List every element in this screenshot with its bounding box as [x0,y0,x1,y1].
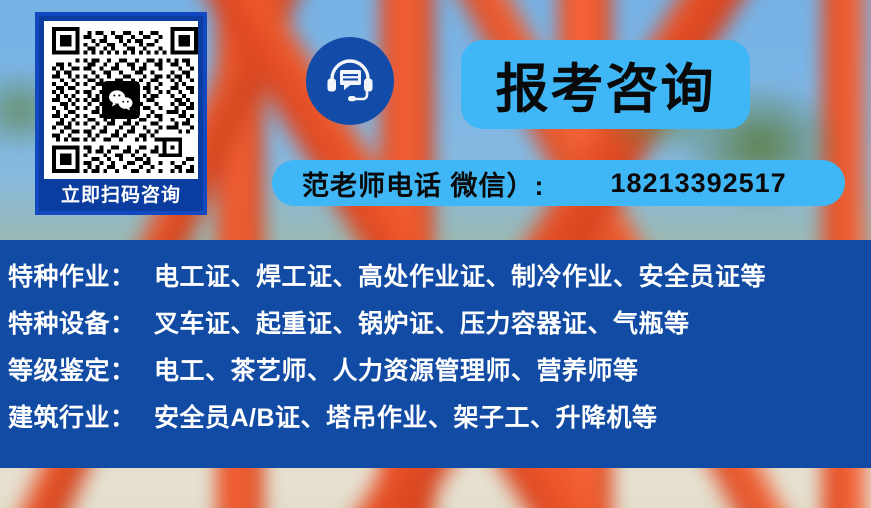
info-row: 特种设备： 叉车证、起重证、锅炉证、压力容器证、气瓶等 [0,304,871,351]
title-pill-label: 报考咨询 [496,47,716,123]
qr-caption: 立即扫码咨询 [44,179,198,213]
info-row-label: 特种作业： [8,257,154,293]
info-row-value: 电工证、焊工证、高处作业证、制冷作业、安全员证等 [154,257,766,293]
info-row-label: 等级鉴定： [8,351,154,387]
info-panel: 特种作业： 电工证、焊工证、高处作业证、制冷作业、安全员证等 特种设备： 叉车证… [0,240,871,468]
qr-code-image[interactable] [44,21,198,179]
info-row-value: 叉车证、起重证、锅炉证、压力容器证、气瓶等 [154,304,690,340]
phone-pill[interactable]: 范老师电话 微信）: 18213392517 [272,160,845,206]
info-row: 建筑行业： 安全员A/B证、塔吊作业、架子工、升降机等 [0,398,871,445]
info-row-label: 特种设备： [8,304,154,340]
title-pill[interactable]: 报考咨询 [461,40,750,129]
promo-poster: 立即扫码咨询 报考咨询 范老师电话 微信）: 18213392517 特种作业：… [0,0,871,508]
headset-support-icon [306,37,394,125]
headset-glyph [322,53,378,109]
info-row: 特种作业： 电工证、焊工证、高处作业证、制冷作业、安全员证等 [0,257,871,304]
info-row-value: 安全员A/B证、塔吊作业、架子工、升降机等 [154,398,658,434]
phone-label: 范老师电话 微信）: [302,164,545,203]
phone-number: 18213392517 [611,168,787,199]
wechat-icon [102,81,140,119]
info-row: 等级鉴定： 电工、茶艺师、人力资源管理师、营养师等 [0,351,871,398]
info-row-value: 电工、茶艺师、人力资源管理师、营养师等 [154,351,639,387]
wechat-glyph [108,89,134,111]
qr-card[interactable]: 立即扫码咨询 [35,12,207,215]
info-row-label: 建筑行业： [8,398,154,434]
